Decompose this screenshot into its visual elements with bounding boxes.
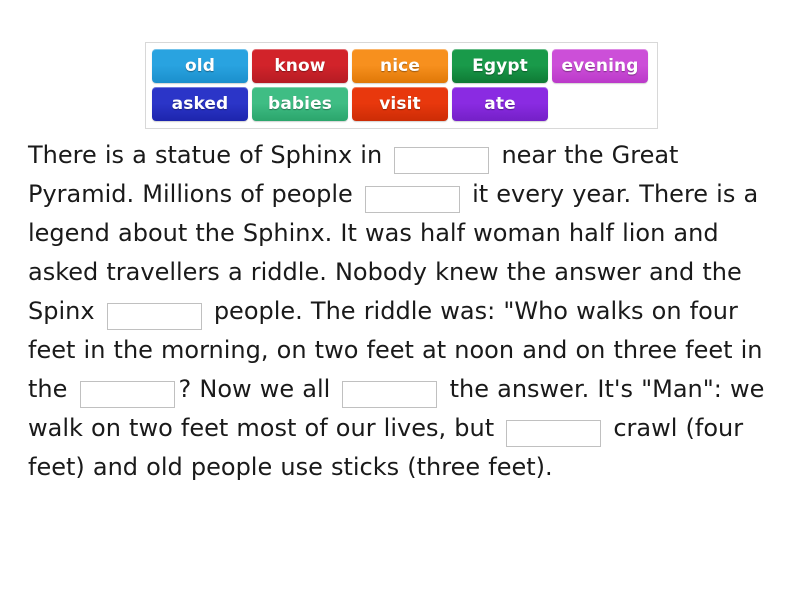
- word-tile-old[interactable]: old: [152, 49, 248, 83]
- word-tile-nice[interactable]: nice: [352, 49, 448, 83]
- word-tile-visit[interactable]: visit: [352, 87, 448, 121]
- word-tile-egypt[interactable]: Egypt: [452, 49, 548, 83]
- word-tile-evening[interactable]: evening: [552, 49, 648, 83]
- word-tile-know[interactable]: know: [252, 49, 348, 83]
- word-bank: oldknowniceEgypteveningaskedbabiesvisita…: [145, 42, 658, 129]
- blank-input-1[interactable]: [394, 147, 489, 174]
- word-tile-babies[interactable]: babies: [252, 87, 348, 121]
- passage-text: There is a statue of Sphinx in: [28, 141, 390, 169]
- word-bank-row: askedbabiesvisitate: [150, 86, 653, 122]
- word-tile-asked[interactable]: asked: [152, 87, 248, 121]
- passage-text: ? Now we all: [179, 375, 339, 403]
- blank-input-6[interactable]: [506, 420, 601, 447]
- blank-input-4[interactable]: [80, 381, 175, 408]
- word-bank-row: oldknowniceEgyptevening: [150, 48, 653, 84]
- blank-input-5[interactable]: [342, 381, 437, 408]
- blank-input-2[interactable]: [365, 186, 460, 213]
- blank-input-3[interactable]: [107, 303, 202, 330]
- word-tile-ate[interactable]: ate: [452, 87, 548, 121]
- cloze-passage: There is a statue of Sphinx in near the …: [28, 136, 780, 487]
- exercise-page: oldknowniceEgypteveningaskedbabiesvisita…: [0, 0, 800, 600]
